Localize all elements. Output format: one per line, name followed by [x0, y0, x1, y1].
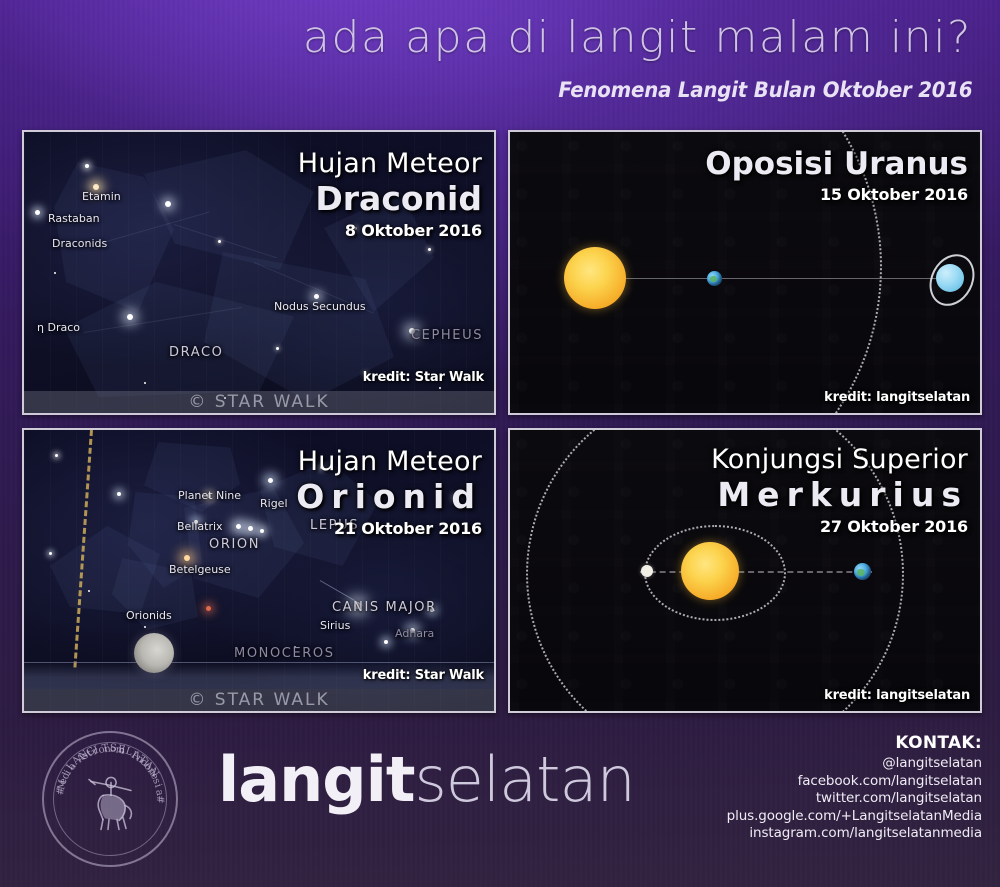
constellation-label-cepheus: CEPHEUS	[411, 328, 483, 343]
poster-header: ada apa di langit malam ini? Fenomena La…	[0, 0, 1000, 118]
starwalk-watermark-bar: © STAR WALK	[24, 689, 494, 711]
watermark-text: © STAR WALK	[188, 392, 329, 412]
panel-credit: kredit: langitselatan	[824, 688, 970, 703]
contact-line-google-plus[interactable]: plus.google.com/+LangitselatanMedia	[727, 808, 982, 826]
panel-date: 27 Oktober 2016	[711, 517, 968, 536]
langitselatan-seal-logo: LANGITSELATAN #Media Astronomi Indonesia…	[42, 731, 178, 867]
star-label-adhara: Adhara	[395, 627, 434, 640]
constellation-label-orion: ORION	[209, 537, 260, 552]
panel-merkurius[interactable]: Konjungsi Superior Merkurius 27 Oktober …	[508, 428, 982, 713]
opposition-sight-line	[610, 278, 956, 279]
moon-body	[134, 633, 174, 673]
panel-heading-uranus: Oposisi Uranus 15 Oktober 2016	[705, 146, 968, 204]
panel-title: Draconid	[298, 179, 482, 218]
star-orion-belt	[260, 529, 264, 533]
earth-body	[707, 271, 722, 286]
star-label-planet-nine: Planet Nine	[178, 489, 241, 502]
panel-orionid[interactable]: Planet Nine Rigel Bellatrix ORION LEPUS …	[22, 428, 496, 713]
page-subtitle: Fenomena Langit Bulan Oktober 2016	[558, 78, 972, 102]
contact-line-twitter[interactable]: twitter.com/langitselatan	[727, 790, 982, 808]
star-orion-belt	[236, 524, 241, 529]
star-rastaban	[35, 210, 40, 215]
panel-heading-draconid: Hujan Meteor Draconid 8 Oktober 2016	[298, 148, 482, 240]
star-label-betelgeuse: Betelgeuse	[169, 563, 231, 576]
star-label-orionids: Orionids	[126, 609, 172, 622]
panel-credit: kredit: Star Walk	[363, 370, 484, 385]
panel-subtitle: Hujan Meteor	[298, 148, 482, 179]
star-label-sirius: Sirius	[320, 619, 350, 632]
brand-light: selatan	[415, 743, 635, 816]
star-label-etamin: Etamin	[82, 190, 121, 203]
star-nodus-secundus	[314, 294, 319, 299]
contact-block: KONTAK: @langitselatan facebook.com/lang…	[727, 733, 982, 843]
panel-credit: kredit: Star Walk	[363, 668, 484, 683]
star-betelgeuse	[184, 555, 190, 561]
constellation-label-monoceros: MONOCEROS	[234, 646, 335, 661]
contact-title: KONTAK:	[727, 733, 982, 753]
star	[428, 248, 431, 251]
star	[85, 164, 89, 168]
star	[144, 626, 146, 628]
star-label-draconids: Draconids	[52, 237, 107, 250]
star	[54, 272, 56, 274]
star	[218, 240, 221, 243]
star	[276, 347, 279, 350]
mercury-body	[641, 565, 653, 577]
contact-line-instagram-handle[interactable]: @langitselatan	[727, 755, 982, 773]
panel-date: 21 Oktober 2016	[296, 519, 482, 538]
conjunction-sight-line	[640, 571, 872, 573]
star	[165, 201, 171, 207]
star-orion-belt	[248, 526, 253, 531]
brand-wordmark: langitselatan	[218, 749, 635, 811]
contact-line-facebook[interactable]: facebook.com/langitselatan	[727, 773, 982, 791]
star	[144, 382, 146, 384]
panel-date: 8 Oktober 2016	[298, 221, 482, 240]
poster-root: ada apa di langit malam ini? Fenomena La…	[0, 0, 1000, 887]
contact-line-instagram[interactable]: instagram.com/langitselatanmedia	[727, 825, 982, 843]
star-orionid-radiant	[206, 606, 211, 611]
star-label-eta-draco: η Draco	[37, 321, 80, 334]
star	[117, 492, 121, 496]
star	[49, 552, 52, 555]
sun-body	[681, 542, 739, 600]
panel-heading-merkurius: Konjungsi Superior Merkurius 27 Oktober …	[711, 444, 968, 536]
constellation-label-draco: DRACO	[169, 345, 224, 360]
star	[88, 590, 90, 592]
brand-bold: langit	[218, 743, 415, 816]
panel-date: 15 Oktober 2016	[705, 185, 968, 204]
panel-subtitle: Konjungsi Superior	[711, 444, 968, 475]
panel-title: Merkurius	[711, 475, 968, 514]
star	[439, 387, 441, 389]
panel-title: Orionid	[296, 477, 482, 516]
panel-heading-orionid: Hujan Meteor Orionid 21 Oktober 2016	[296, 446, 482, 538]
panel-credit: kredit: langitselatan	[824, 390, 970, 405]
panel-subtitle: Hujan Meteor	[296, 446, 482, 477]
watermark-text: © STAR WALK	[188, 690, 329, 710]
constellation-label-canis-major: CANIS MAJOR	[332, 600, 437, 615]
centaur-archer-icon	[73, 763, 147, 837]
poster-footer: LANGITSELATAN #Media Astronomi Indonesia…	[0, 709, 1000, 887]
star-label-rigel: Rigel	[260, 497, 288, 510]
star	[384, 640, 388, 644]
star-rigel	[268, 478, 273, 483]
star-label-bellatrix: Bellatrix	[177, 520, 223, 533]
star-label-rastaban: Rastaban	[48, 212, 100, 225]
panel-draconid[interactable]: Etamin Rastaban Draconids Nodus Secundus…	[22, 130, 496, 415]
sun-body	[564, 247, 626, 309]
panel-uranus[interactable]: Oposisi Uranus 15 Oktober 2016 kredit: l…	[508, 130, 982, 415]
star-label-nodus-secundus: Nodus Secundus	[274, 300, 366, 313]
starwalk-watermark-bar: © STAR WALK	[24, 391, 494, 413]
panel-title: Oposisi Uranus	[705, 146, 968, 182]
earth-body	[854, 563, 871, 580]
star-eta-draco	[127, 314, 133, 320]
page-title: ada apa di langit malam ini?	[303, 16, 972, 60]
star	[55, 454, 58, 457]
